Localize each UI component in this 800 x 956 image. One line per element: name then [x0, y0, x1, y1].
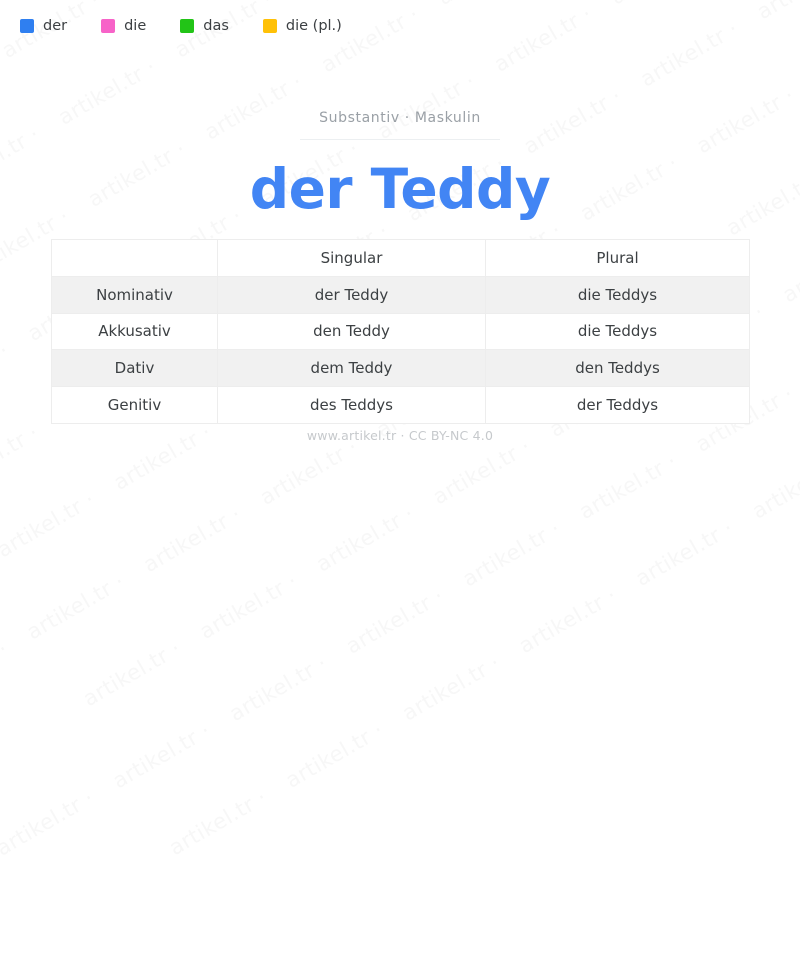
word-subtitle: Substantiv · Maskulin	[0, 108, 800, 128]
color-swatch-icon	[180, 19, 194, 33]
cell-singular: den Teddy	[218, 313, 486, 350]
legend-item-der: der	[20, 18, 67, 34]
word-header: Substantiv · Maskulin der Teddy	[0, 108, 800, 220]
case-label-genitiv: Genitiv	[52, 387, 218, 424]
page-title: der Teddy	[0, 158, 800, 220]
column-header-singular: Singular	[218, 240, 486, 277]
cell-singular: dem Teddy	[218, 350, 486, 387]
table-row: Nominativder Teddydie Teddys	[52, 276, 750, 313]
cell-plural: die Teddys	[486, 313, 750, 350]
declension-table-container: SingularPlural Nominativder Teddydie Ted…	[51, 239, 749, 424]
cell-plural: den Teddys	[486, 350, 750, 387]
footer-credit: www.artikel.tr · CC BY-NC 4.0	[0, 428, 800, 443]
cell-singular: der Teddy	[218, 276, 486, 313]
case-label-dativ: Dativ	[52, 350, 218, 387]
table-body: Nominativder Teddydie TeddysAkkusativden…	[52, 276, 750, 423]
column-header-plural: Plural	[486, 240, 750, 277]
case-label-akkusativ: Akkusativ	[52, 313, 218, 350]
color-swatch-icon	[20, 19, 34, 33]
legend-item-diepl: die (pl.)	[263, 18, 342, 34]
page-root: derdiedasdie (pl.) Substantiv · Maskulin…	[0, 0, 800, 533]
article-color-legend: derdiedasdie (pl.)	[20, 18, 376, 34]
table-row: Genitivdes Teddysder Teddys	[52, 387, 750, 424]
table-row: Dativdem Teddyden Teddys	[52, 350, 750, 387]
color-swatch-icon	[101, 19, 115, 33]
cell-plural: die Teddys	[486, 276, 750, 313]
case-label-nominativ: Nominativ	[52, 276, 218, 313]
column-header-blank	[52, 240, 218, 277]
table-header-row: SingularPlural	[52, 240, 750, 277]
cell-plural: der Teddys	[486, 387, 750, 424]
cell-singular: des Teddys	[218, 387, 486, 424]
table-row: Akkusativden Teddydie Teddys	[52, 313, 750, 350]
declension-table: SingularPlural Nominativder Teddydie Ted…	[51, 239, 750, 424]
legend-item-label: die	[124, 18, 146, 34]
color-swatch-icon	[263, 19, 277, 33]
legend-item-label: der	[43, 18, 67, 34]
legend-item-das: das	[180, 18, 229, 34]
table-head: SingularPlural	[52, 240, 750, 277]
legend-item-label: die (pl.)	[286, 18, 342, 34]
legend-item-label: das	[203, 18, 229, 34]
legend-item-die: die	[101, 18, 146, 34]
header-divider	[300, 139, 500, 140]
